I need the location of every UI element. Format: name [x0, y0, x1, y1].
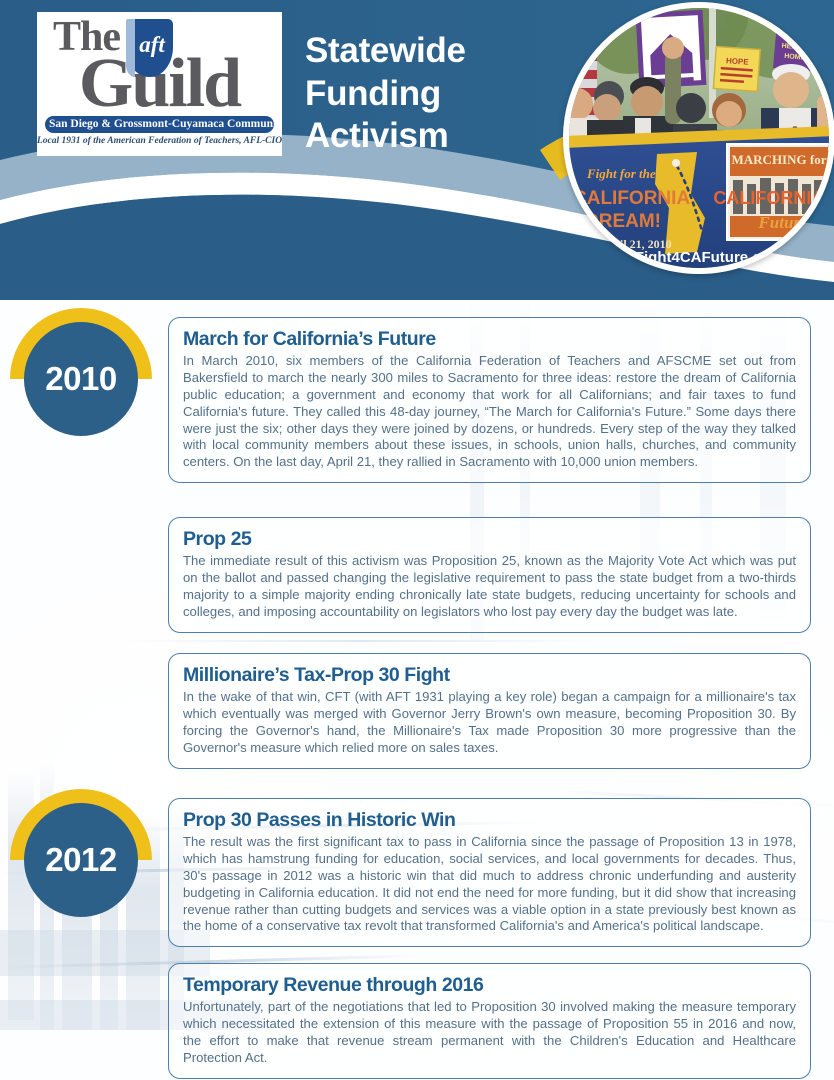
page-title-line-3: Activism [305, 115, 466, 158]
poster-header: The aft Guild San Diego & Grossmont-Cuya… [0, 0, 834, 300]
card-body: The immediate result of this activism wa… [183, 553, 796, 620]
timeline-card-millionaires-tax-prop-30-fight[interactable]: Millionaire’s Tax-Prop 30 Fight In the w… [168, 653, 811, 769]
card-title: Prop 30 Passes in Historic Win [183, 809, 796, 831]
card-body: In the wake of that win, CFT (with AFT 1… [183, 689, 796, 756]
card-title: Prop 25 [183, 528, 796, 550]
svg-text:Fight for the: Fight for the [586, 166, 656, 181]
svg-text:MARCHING for: MARCHING for [732, 152, 827, 167]
year-badge-disc-2010: 2010 [24, 322, 138, 436]
year-badge-disc-2012: 2012 [24, 803, 138, 917]
page-title-line-1: Statewide [305, 30, 466, 73]
guild-logo: The aft Guild San Diego & Grossmont-Cuya… [37, 12, 282, 156]
timeline-card-temporary-revenue-through-2016[interactable]: Temporary Revenue through 2016 Unfortuna… [168, 963, 811, 1079]
year-label-2012: 2012 [45, 841, 116, 879]
card-body: Unfortunately, part of the negotiations … [183, 999, 796, 1066]
page-title: Statewide Funding Activism [305, 30, 466, 158]
timeline-card-prop-30-passes-in-historic-win[interactable]: Prop 30 Passes in Historic Win The resul… [168, 798, 811, 947]
card-body: The result was the first significant tax… [183, 834, 796, 935]
year-badge-2012: 2012 [24, 803, 138, 917]
card-title: March for California’s Future [183, 328, 796, 350]
year-label-2010: 2010 [45, 360, 116, 398]
svg-text:CALIFORNIA'S: CALIFORNIA'S [713, 188, 829, 208]
poster-page: The aft Guild San Diego & Grossmont-Cuya… [0, 0, 834, 1080]
timeline-card-march-for-californias-future[interactable]: March for California’s Future In March 2… [168, 317, 811, 483]
aft-shield-label: aft [126, 19, 173, 77]
card-title: Millionaire’s Tax-Prop 30 Fight [183, 664, 796, 686]
aft-shield-icon: aft [126, 19, 173, 77]
svg-text:CALIFORNIA: CALIFORNIA [573, 188, 690, 209]
page-title-line-2: Funding [305, 73, 466, 116]
card-title: Temporary Revenue through 2016 [183, 974, 796, 996]
year-badge-2010: 2010 [24, 322, 138, 436]
svg-text:HOPE: HOPE [726, 56, 750, 67]
logo-local-line: Local 1931 of the American Federation of… [37, 136, 282, 146]
timeline-card-prop-25[interactable]: Prop 25 The immediate result of this act… [168, 517, 811, 633]
card-body: In March 2010, six members of the Califo… [183, 353, 796, 471]
logo-colleges-bar: San Diego & Grossmont-Cuyamaca Community… [45, 116, 274, 133]
march-photo: HOPE KEEP HEALTHY HOMES [563, 2, 834, 274]
